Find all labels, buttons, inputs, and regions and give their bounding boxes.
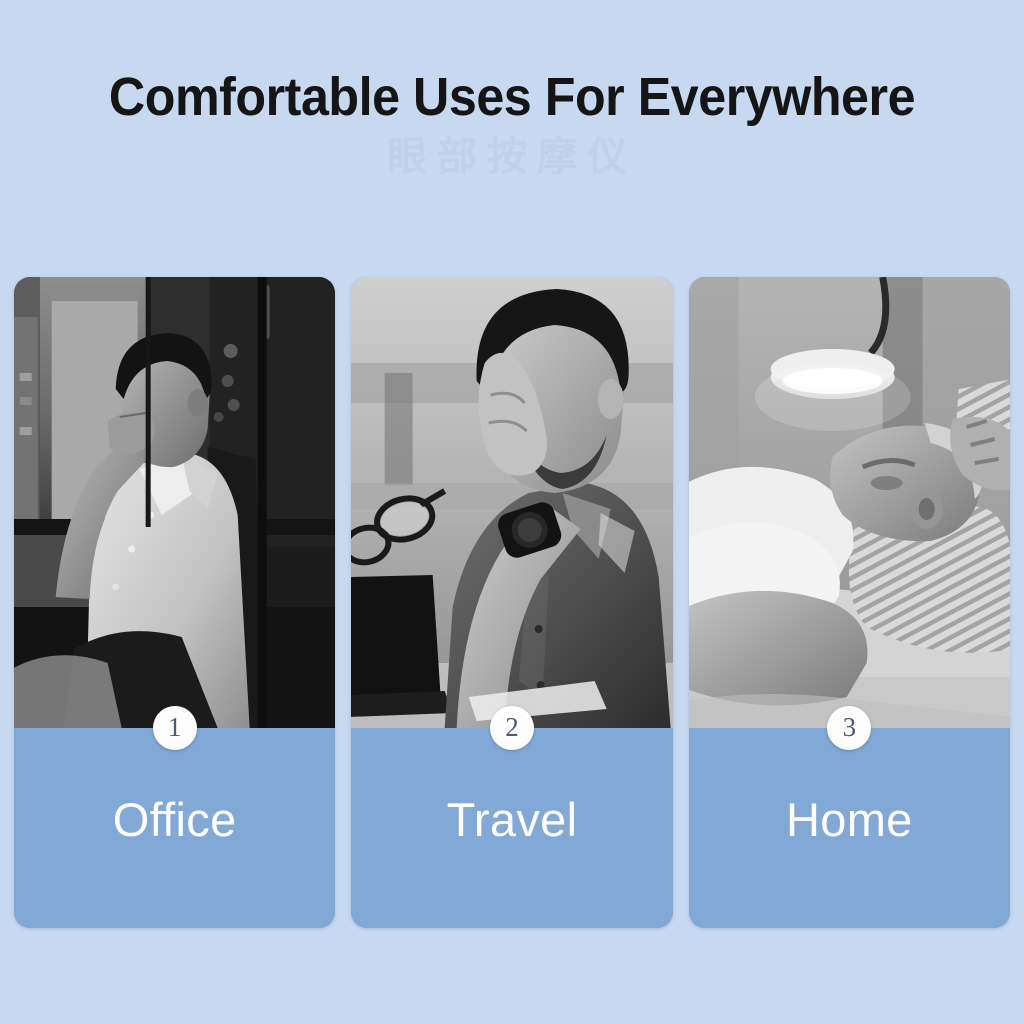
photo-home — [689, 277, 1010, 728]
step-badge-3: 3 — [827, 706, 871, 750]
use-case-card-office[interactable]: Office 1 — [14, 277, 335, 928]
card-clip: Travel — [351, 277, 672, 928]
step-number: 3 — [843, 714, 857, 742]
card-label-office: Office — [14, 793, 335, 847]
photo-travel — [351, 277, 672, 728]
step-badge-1: 1 — [153, 706, 197, 750]
card-label-home: Home — [689, 793, 1010, 847]
card-label-travel: Travel — [351, 793, 672, 847]
page-title: Comfortable Uses For Everywhere — [36, 68, 988, 126]
step-number: 2 — [505, 714, 519, 742]
card-clip: Home — [689, 277, 1010, 928]
use-case-card-home[interactable]: Home 3 — [689, 277, 1010, 928]
use-case-card-travel[interactable]: Travel 2 — [351, 277, 672, 928]
photo-office — [14, 277, 335, 728]
step-badge-2: 2 — [490, 706, 534, 750]
watermark-text: 眼部按摩仪 — [0, 133, 1024, 181]
use-case-card-rail: Office 1 — [14, 277, 1010, 928]
card-clip: Office — [14, 277, 335, 928]
step-number: 1 — [168, 714, 182, 742]
